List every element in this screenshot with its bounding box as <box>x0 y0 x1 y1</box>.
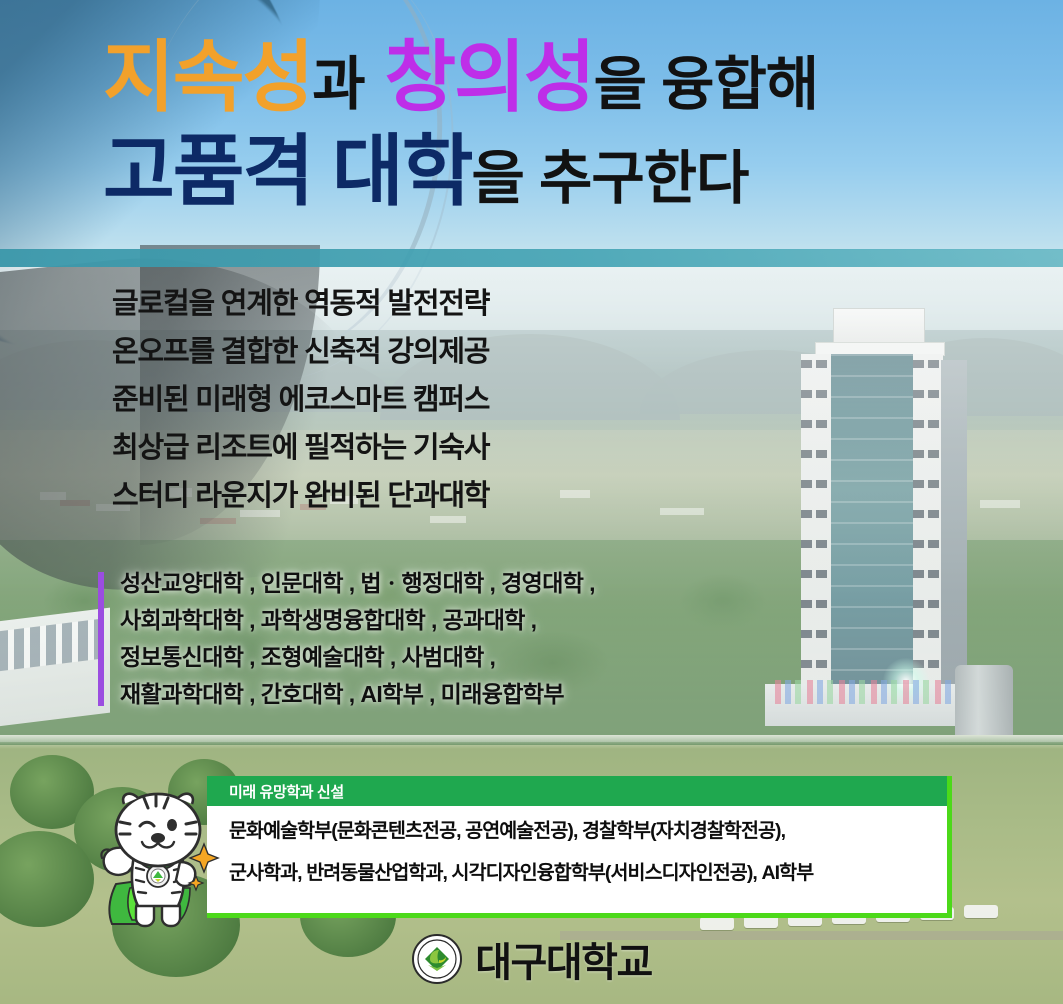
footer-branding: 대구대학교 <box>0 930 1063 988</box>
headline-line-2: 고품격 대학을 추구한다 <box>103 132 963 210</box>
new-departments-box: 미래 유망학과 신설 문화예술학부(문화콘텐츠전공, 공연예술전공), 경찰학부… <box>207 776 952 918</box>
new-departments-line-2: 군사학과, 반려동물산업학과, 시각디자인융합학부(서비스디자인전공), AI학… <box>229 864 929 884</box>
bottom-divider-scrim <box>0 735 1063 749</box>
college-line-1: 성산교양대학 , 인문대학 , 법ㆍ행정대학 , 경영대학 , <box>120 572 595 595</box>
key-point-5: 스터디 라운지가 완비된 단과대학 <box>112 482 489 511</box>
new-departments-header: 미래 유망학과 신설 <box>207 776 947 806</box>
college-line-3: 정보통신대학 , 조형예술대학 , 사범대학 , <box>120 646 595 669</box>
key-point-2: 온오프를 결합한 신축적 강의제공 <box>112 338 489 367</box>
headline-seg-5: 고품격 대학 <box>103 127 471 215</box>
key-points-list: 글로컬을 연계한 역동적 발전전략 온오프를 결합한 신축적 강의제공 준비된 … <box>112 290 489 530</box>
headline-seg-2: 과 <box>312 52 364 117</box>
headline-seg-6: 을 추구한다 <box>471 146 748 211</box>
college-list: 성산교양대학 , 인문대학 , 법ㆍ행정대학 , 경영대학 , 사회과학대학 ,… <box>98 572 595 706</box>
new-departments-body: 문화예술학부(문화콘텐츠전공, 공연예술전공), 경찰학부(자치경찰학전공), … <box>207 806 947 883</box>
key-point-4: 최상급 리조트에 필적하는 기숙사 <box>112 434 489 463</box>
new-departments-line-1: 문화예술학부(문화콘텐츠전공, 공연예술전공), 경찰학부(자치경찰학전공), <box>229 822 929 842</box>
poster-root: 지속성과 창의성을 융합해 고품격 대학을 추구한다 글로컬을 연계한 역동적 … <box>0 0 1063 1004</box>
college-line-4: 재활과학대학 , 간호대학 , AI학부 , 미래융합학부 <box>120 683 595 706</box>
headline-block: 지속성과 창의성을 융합해 고품격 대학을 추구한다 <box>103 38 963 210</box>
teal-divider-band <box>0 249 1063 267</box>
college-line-2: 사회과학대학 , 과학생명융합대학 , 공과대학 , <box>120 609 595 632</box>
university-name: 대구대학교 <box>475 930 652 988</box>
key-point-1: 글로컬을 연계한 역동적 발전전략 <box>112 290 489 319</box>
key-point-3: 준비된 미래형 에코스마트 캠퍼스 <box>112 386 489 415</box>
headline-seg-4: 을 융합해 <box>594 52 819 117</box>
university-emblem-icon <box>411 933 463 985</box>
white-tiger-mascot <box>86 788 228 938</box>
headline-seg-3: 창의성 <box>365 33 594 121</box>
headline-line-1: 지속성과 창의성을 융합해 <box>103 38 963 116</box>
headline-seg-1: 지속성 <box>103 33 312 121</box>
